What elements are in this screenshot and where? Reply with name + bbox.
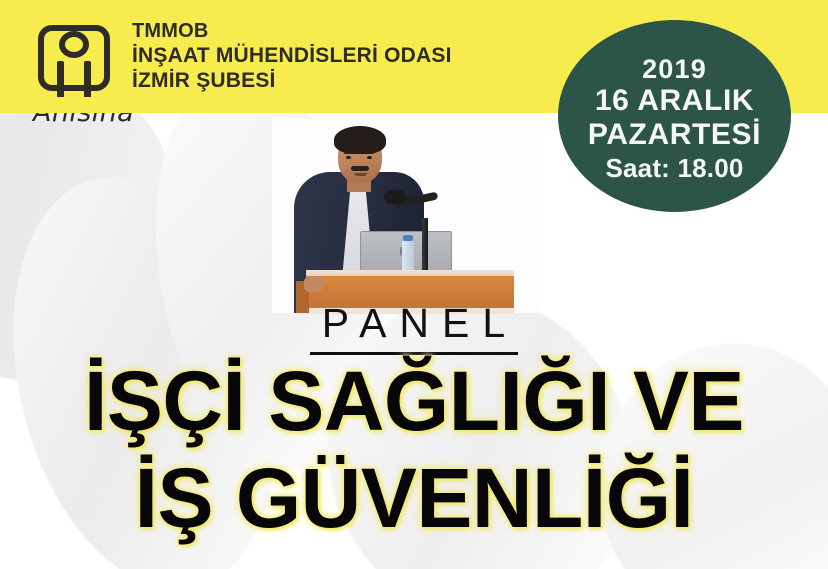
water-bottle-icon: [402, 240, 414, 272]
logo-right-leg-shape: [84, 61, 91, 97]
event-headline: İŞÇİ SAĞLIĞI VE İŞ GÜVENLİĞİ: [0, 356, 828, 543]
logo-head-shape: [59, 31, 89, 58]
headline-line-2: İŞ GÜVENLİĞİ: [0, 453, 828, 544]
speaker-mustache: [351, 166, 369, 171]
event-date-badge: 2019 16 ARALIK PAZARTESİ Saat: 18.00: [558, 20, 791, 212]
speaker-at-podium-photo: [272, 118, 540, 313]
headline-line-1: İŞÇİ SAĞLIĞI VE: [0, 356, 828, 447]
event-poster: TMMOB İNŞAAT MÜHENDİSLERİ ODASI İZMİR ŞU…: [0, 0, 828, 569]
speaker-right-eyebrow: [364, 151, 374, 154]
date-weekday: PAZARTESİ: [588, 118, 761, 152]
speaker-right-eye: [367, 156, 372, 159]
speaker-left-eye: [346, 156, 351, 159]
speaker-hand: [304, 276, 324, 292]
org-line-tmmob: TMMOB: [132, 21, 452, 41]
microphone-icon: [384, 190, 406, 204]
panel-label: PANEL: [310, 300, 518, 355]
speaker-left-eyebrow: [344, 151, 354, 154]
logo-left-leg-shape: [57, 61, 64, 97]
speaker-mouth: [354, 173, 367, 176]
panel-label-row: PANEL: [0, 300, 828, 355]
org-line-branch: İZMİR ŞUBESİ: [132, 70, 452, 91]
organization-name-block: TMMOB İNŞAAT MÜHENDİSLERİ ODASI İZMİR ŞU…: [132, 21, 452, 93]
water-bottle-cap: [403, 235, 413, 241]
org-line-chamber: İNŞAAT MÜHENDİSLERİ ODASI: [132, 45, 452, 66]
date-time: Saat: 18.00: [605, 153, 743, 184]
date-day: 16 ARALIK: [595, 84, 754, 118]
speaker-hair: [334, 126, 386, 154]
date-year: 2019: [642, 54, 707, 84]
tmmob-person-frame-logo-icon: [38, 25, 110, 91]
